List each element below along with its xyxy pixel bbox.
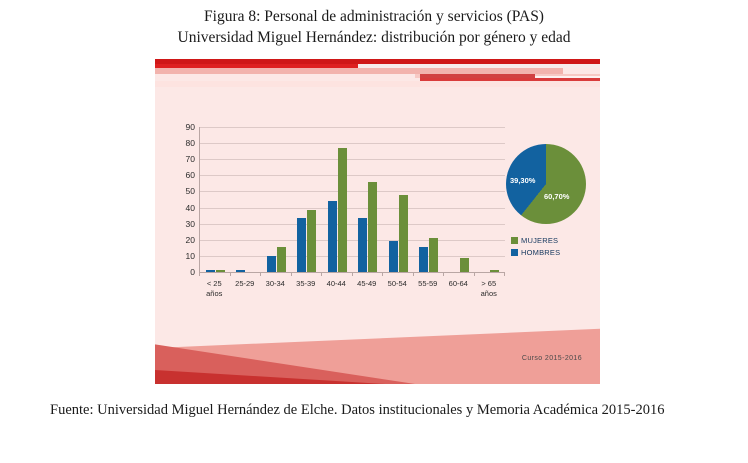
banner-stripe-9	[155, 81, 600, 87]
x-label-6: 50-54	[382, 279, 412, 299]
pie-label-mujeres: 60,70%	[544, 192, 569, 201]
figure-caption: Figura 8: Personal de administración y s…	[0, 6, 748, 48]
y-tick-30: 30	[186, 219, 195, 229]
y-tick-70: 70	[186, 154, 195, 164]
source-text: Fuente: Universidad Miguel Hernández de …	[50, 402, 664, 418]
legend-label-mujeres: MUJERES	[521, 236, 558, 245]
x-tick-1	[230, 272, 231, 276]
legend-item-hombres: HOMBRES	[511, 248, 560, 257]
x-tick-0	[199, 272, 200, 276]
bar-group	[358, 127, 377, 272]
x-tick-5	[352, 272, 353, 276]
bar-group	[419, 127, 438, 272]
bar-hombres-2	[267, 256, 276, 272]
bar-mujeres-3	[307, 210, 316, 272]
x-tick-4	[321, 272, 322, 276]
x-tick-7	[413, 272, 414, 276]
y-axis-tick-labels: 0102030405060708090	[173, 127, 195, 272]
x-tick-8	[443, 272, 444, 276]
bar-hombres-7	[419, 247, 428, 272]
bar-mujeres-8	[460, 258, 469, 272]
x-label-8: 60-64	[443, 279, 473, 299]
bar-mujeres-6	[399, 195, 408, 272]
y-tick-90: 90	[186, 122, 195, 132]
x-label-4: 40-44	[321, 279, 351, 299]
x-tick-2	[260, 272, 261, 276]
bar-hombres-3	[297, 218, 306, 272]
bar-group	[297, 127, 316, 272]
x-axis-tick-labels: < 25años25-2930-3435-3940-4445-4950-5455…	[199, 279, 504, 299]
bar-group	[480, 127, 499, 272]
bar-group	[206, 127, 225, 272]
caption-line-1: Figura 8: Personal de administración y s…	[204, 8, 544, 25]
bar-group	[389, 127, 408, 272]
bar-groups	[200, 127, 505, 272]
x-tick-6	[382, 272, 383, 276]
plot-axes	[199, 127, 505, 273]
y-tick-40: 40	[186, 203, 195, 213]
y-tick-10: 10	[186, 251, 195, 261]
y-tick-80: 80	[186, 138, 195, 148]
y-tick-60: 60	[186, 170, 195, 180]
pie-chart: 39,30% 60,70% MUJERES HOMBRES	[500, 144, 592, 274]
x-label-0: < 25años	[199, 279, 229, 299]
pie-circle: 39,30% 60,70%	[506, 144, 586, 224]
bar-group	[267, 127, 286, 272]
x-label-5: 45-49	[352, 279, 382, 299]
caption-line-2: Universidad Miguel Hernández: distribuci…	[0, 27, 748, 48]
bar-group	[236, 127, 255, 272]
source-note: Fuente: Universidad Miguel Hernández de …	[28, 400, 728, 420]
legend-swatch-mujeres	[511, 237, 518, 244]
chart-slide: 0102030405060708090 < 25años25-2930-3435…	[155, 59, 600, 384]
y-tick-20: 20	[186, 235, 195, 245]
pie-label-hombres: 39,30%	[510, 176, 535, 185]
legend-label-hombres: HOMBRES	[521, 248, 560, 257]
bar-mujeres-5	[368, 182, 377, 272]
x-label-7: 55-59	[413, 279, 443, 299]
x-label-2: 30-34	[260, 279, 290, 299]
bar-group	[450, 127, 469, 272]
y-tick-50: 50	[186, 186, 195, 196]
bar-hombres-5	[358, 218, 367, 272]
bar-chart: 0102030405060708090 < 25años25-2930-3435…	[173, 127, 508, 282]
bar-hombres-6	[389, 241, 398, 272]
bar-mujeres-7	[429, 238, 438, 272]
legend-swatch-hombres	[511, 249, 518, 256]
slide-watermark: Curso 2015-2016	[522, 355, 582, 362]
x-label-9: > 65años	[474, 279, 504, 299]
x-tick-9	[474, 272, 475, 276]
bar-group	[328, 127, 347, 272]
y-tick-0: 0	[190, 267, 195, 277]
bar-mujeres-4	[338, 148, 347, 272]
x-label-1: 25-29	[230, 279, 260, 299]
legend-item-mujeres: MUJERES	[511, 236, 560, 245]
bar-mujeres-2	[277, 247, 286, 272]
x-tick-3	[291, 272, 292, 276]
x-axis-ticks	[199, 272, 504, 277]
bar-hombres-4	[328, 201, 337, 272]
x-label-3: 35-39	[291, 279, 321, 299]
pie-legend: MUJERES HOMBRES	[511, 236, 560, 260]
